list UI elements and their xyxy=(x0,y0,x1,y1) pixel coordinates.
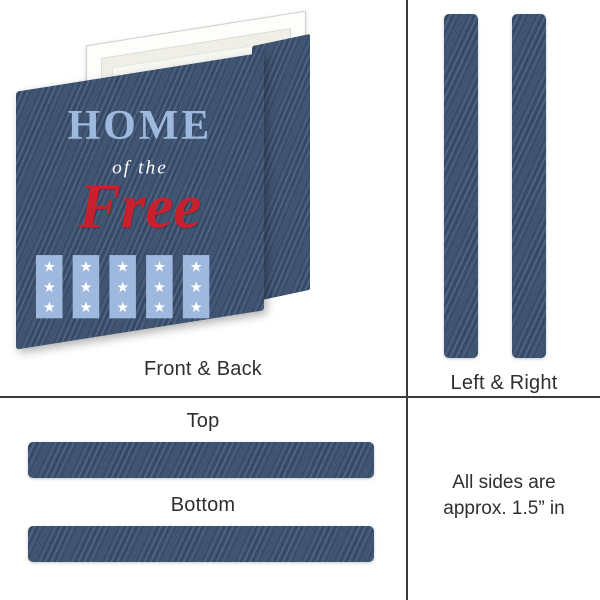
flag-stripe: ★ ★ ★ xyxy=(109,255,136,318)
star-icon: ★ xyxy=(153,300,166,314)
label-top: Top xyxy=(0,410,406,433)
artwork-word-free: Free xyxy=(16,176,264,239)
star-icon: ★ xyxy=(116,259,129,273)
star-icon: ★ xyxy=(190,280,203,294)
star-icon: ★ xyxy=(190,259,203,273)
note-line-2: approx. 1.5” in xyxy=(408,496,600,522)
star-icon: ★ xyxy=(190,300,203,314)
panel-left-right: Left & Right xyxy=(408,0,600,396)
panel-note: All sides are approx. 1.5” in xyxy=(408,398,600,600)
artwork-flag-stripes: ★ ★ ★ ★ ★ ★ ★ ★ ★ ★ xyxy=(36,255,222,318)
star-icon: ★ xyxy=(43,280,56,294)
product-dimension-diagram: HOME of the Free ★ ★ ★ ★ ★ ★ ★ xyxy=(0,0,600,600)
artwork-word-home: HOME xyxy=(16,104,264,146)
star-icon: ★ xyxy=(116,280,129,294)
flag-stripe: ★ ★ ★ xyxy=(183,255,210,318)
label-bottom: Bottom xyxy=(0,494,406,517)
star-icon: ★ xyxy=(153,280,166,294)
panel-top-bottom: Top Bottom xyxy=(0,398,406,600)
front-canvas-artwork: HOME of the Free ★ ★ ★ ★ ★ ★ ★ xyxy=(16,69,264,332)
front-canvas-illustration: HOME of the Free ★ ★ ★ ★ ★ ★ ★ xyxy=(16,52,264,349)
side-panel-left xyxy=(444,14,478,358)
star-icon: ★ xyxy=(153,259,166,273)
flag-stripe: ★ ★ ★ xyxy=(73,255,100,318)
side-panel-right xyxy=(512,14,546,358)
label-left-right: Left & Right xyxy=(408,372,600,395)
star-icon: ★ xyxy=(80,259,93,273)
label-front-back: Front & Back xyxy=(0,358,406,381)
star-icon: ★ xyxy=(80,300,93,314)
side-panel-top xyxy=(28,442,374,478)
star-icon: ★ xyxy=(43,259,56,273)
star-icon: ★ xyxy=(80,280,93,294)
panel-front-back: HOME of the Free ★ ★ ★ ★ ★ ★ ★ xyxy=(0,0,406,396)
flag-stripe: ★ ★ ★ xyxy=(36,255,63,318)
star-icon: ★ xyxy=(116,300,129,314)
flag-stripe: ★ ★ ★ xyxy=(146,255,173,318)
note-dimensions: All sides are approx. 1.5” in xyxy=(408,470,600,522)
star-icon: ★ xyxy=(43,300,56,314)
note-line-1: All sides are xyxy=(408,470,600,496)
side-panel-bottom xyxy=(28,526,374,562)
